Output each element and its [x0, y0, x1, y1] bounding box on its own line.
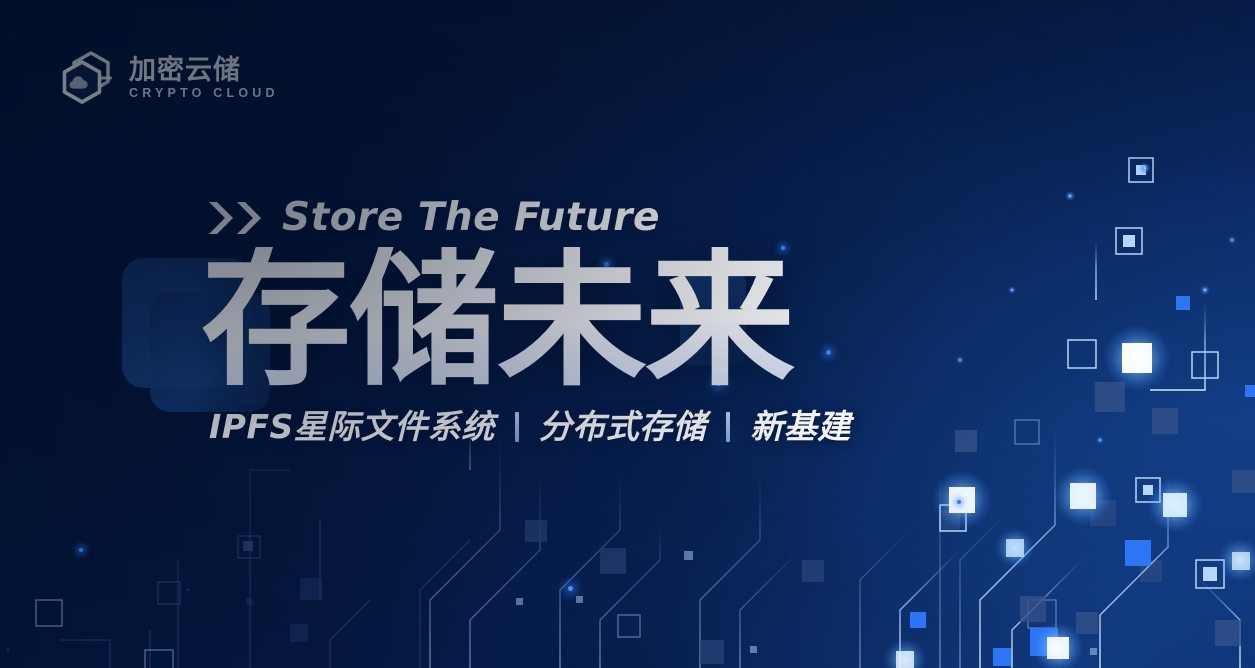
hero-subtitle: IPFS星际文件系统 分布式存储 新基建 [209, 410, 851, 443]
hero-eyebrow: Store The Future [207, 198, 851, 237]
brand-name-en: CRYPTO CLOUD [129, 87, 279, 100]
hero-copy: Store The Future 存储未来 IPFS星际文件系统 分布式存储 新… [207, 198, 851, 443]
brand-logo[interactable]: 加密云储 CRYPTO CLOUD [60, 48, 279, 108]
brand-name-cn: 加密云储 [129, 57, 279, 84]
hero-subtitle-separator [726, 412, 730, 442]
hero-subtitle-segment-3: 新基建 [750, 410, 851, 443]
hexagon-cloud-icon [60, 48, 116, 108]
hero-banner: 加密云储 CRYPTO CLOUD Store The Future 存储未来 … [0, 0, 1255, 668]
hero-subtitle-segment-1: IPFS星际文件系统 [209, 410, 495, 443]
hero-headline: 存储未来 [201, 247, 851, 394]
hero-subtitle-segment-2: 分布式存储 [539, 410, 707, 443]
hero-subtitle-separator [515, 412, 519, 442]
hero-eyebrow-text: Store The Future [282, 198, 660, 237]
double-chevron-right-icon [207, 200, 265, 236]
